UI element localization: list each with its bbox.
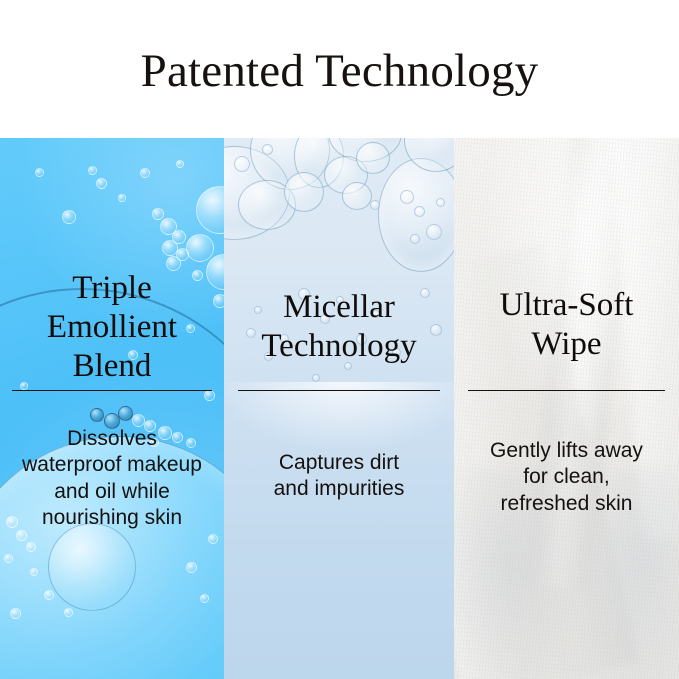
panel-3-body-line-3: refreshed skin [462,491,671,517]
panel-1-body: Dissolves waterproof makeup and oil whil… [0,426,224,532]
panel-2-heading: Micellar Technology [224,288,454,366]
panel-3-body-line-1: Gently lifts away [462,438,671,464]
panel-1-body-line-1: Dissolves [8,426,216,452]
panel-1-heading-line-1: Triple [10,269,214,308]
panel-1-divider [12,390,212,391]
panel-micellar-technology: Micellar Technology Captures dirt and im… [224,138,454,679]
panel-2-body-line-2: and impurities [232,476,446,502]
panel-2-content: Micellar Technology Captures dirt and im… [224,138,454,679]
panel-3-content: Ultra-Soft Wipe Gently lifts away for cl… [454,138,679,679]
panel-3-body: Gently lifts away for clean, refreshed s… [454,438,679,517]
feature-panels: Triple Emollient Blend Dissolves waterpr… [0,138,679,679]
panel-2-heading-line-2: Technology [234,327,444,366]
panel-3-heading: Ultra-Soft Wipe [454,286,679,364]
panel-1-heading: Triple Emollient Blend [0,269,224,386]
panel-3-body-line-2: for clean, [462,464,671,490]
panel-triple-emollient-blend: Triple Emollient Blend Dissolves waterpr… [0,138,224,679]
panel-2-body: Captures dirt and impurities [224,450,454,503]
panel-ultra-soft-wipe: Ultra-Soft Wipe Gently lifts away for cl… [454,138,679,679]
page-title: Patented Technology [141,48,539,95]
panel-3-divider [468,390,665,391]
header: Patented Technology [0,0,679,138]
panel-1-heading-line-3: Blend [10,347,214,386]
panel-3-heading-line-1: Ultra-Soft [464,286,669,325]
patented-technology-infographic: Patented Technology [0,0,679,679]
panel-2-body-line-1: Captures dirt [232,450,446,476]
panel-1-heading-line-2: Emollient [10,308,214,347]
panel-2-heading-line-1: Micellar [234,288,444,327]
panel-1-body-line-3: and oil while [8,479,216,505]
panel-1-body-line-2: waterproof makeup [8,452,216,478]
panel-3-heading-line-2: Wipe [464,325,669,364]
panel-1-body-line-4: nourishing skin [8,505,216,531]
panel-2-divider [238,390,440,391]
panel-1-content: Triple Emollient Blend Dissolves waterpr… [0,138,224,679]
